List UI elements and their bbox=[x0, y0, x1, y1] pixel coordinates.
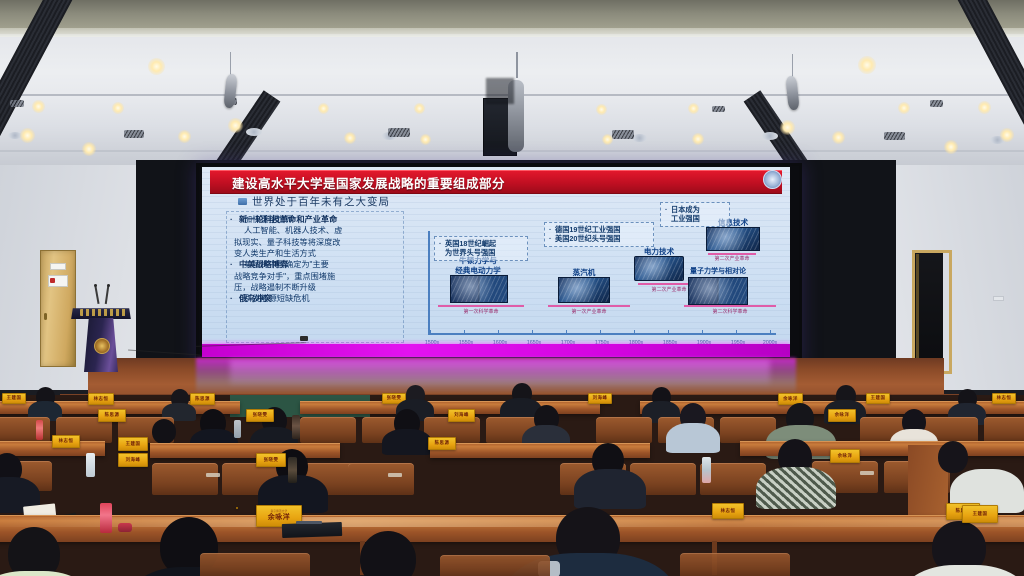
revolution-label: 第二次产业革命 bbox=[651, 286, 686, 293]
revolution-label: 第二次科学革命 bbox=[712, 308, 747, 315]
door-notice-mark bbox=[50, 278, 55, 283]
name-card: 王建国 bbox=[118, 437, 148, 451]
door-sign-left bbox=[50, 263, 66, 270]
stage-spotlight bbox=[148, 58, 165, 75]
seat-number-plate bbox=[206, 473, 220, 477]
callout-line: ·德国19世纪工业强国 bbox=[549, 225, 649, 235]
mug-lid[interactable] bbox=[118, 523, 132, 532]
ceiling-linear-vent bbox=[124, 130, 144, 138]
name-card: 王建国 bbox=[866, 393, 890, 404]
floor-connector-box bbox=[300, 336, 308, 341]
ceiling-downlight bbox=[978, 101, 991, 114]
ceiling-downlight bbox=[898, 102, 910, 114]
attendee-body bbox=[382, 429, 432, 455]
ceiling-vent bbox=[712, 106, 725, 112]
seat-back[interactable] bbox=[984, 417, 1024, 443]
speaker-shadow bbox=[486, 78, 514, 104]
name-card: 林志恒 bbox=[992, 393, 1016, 404]
name-card bbox=[236, 507, 238, 509]
attendee-body-floral-dress bbox=[756, 467, 836, 509]
ceiling-vent bbox=[930, 100, 943, 107]
ceiling-downlight bbox=[414, 103, 425, 114]
name-card: 林志恒 bbox=[52, 435, 80, 448]
lamp-rod bbox=[792, 54, 793, 78]
stage-spotlight bbox=[858, 56, 876, 74]
name-card: 林志恒 bbox=[712, 503, 744, 519]
era-label-quantum: 量子力学与相对论 bbox=[682, 268, 754, 277]
university-seal-icon bbox=[763, 170, 782, 189]
bullet-line: 变人类生产和生活方式 bbox=[230, 248, 400, 259]
revolution-label: 第一次产业革命 bbox=[571, 308, 606, 315]
audience-area: 王建国 林志恒 陈思源 张晓雯 刘海峰 余咏洋 王建国 林志恒 bbox=[0, 395, 1024, 576]
era-label-steam: 蒸汽机 bbox=[561, 268, 607, 277]
name-card: 王建国 bbox=[2, 393, 26, 404]
bullet-head: ·中美战略博弈 bbox=[230, 259, 288, 270]
attendee-body-foreground bbox=[900, 565, 1024, 576]
attendee-head bbox=[938, 441, 968, 473]
axis-tick bbox=[464, 330, 465, 335]
book-icon bbox=[238, 198, 247, 205]
attendee-body-light-shirt bbox=[666, 423, 720, 453]
era-photo-info bbox=[706, 227, 760, 251]
thermos-bottle[interactable] bbox=[292, 415, 300, 439]
water-bottle[interactable] bbox=[702, 457, 711, 483]
stage-spotlight bbox=[780, 120, 795, 135]
ceiling-downlight bbox=[596, 104, 607, 115]
bullet-line: 战略竞争对手"，重点围堵施 bbox=[230, 271, 400, 282]
ceiling-diffuser bbox=[762, 132, 778, 140]
axis-tick bbox=[532, 330, 533, 335]
callout-line: 为世界头号强国 bbox=[439, 248, 523, 258]
axis-tick bbox=[736, 330, 737, 335]
water-bottle[interactable] bbox=[86, 453, 95, 477]
water-bottle[interactable] bbox=[36, 420, 43, 440]
era-photo-electric bbox=[634, 256, 684, 281]
ceiling-diffuser bbox=[632, 134, 647, 142]
revolution-label-info: 第二次产业革命 bbox=[714, 255, 749, 262]
bullet-line: 人工智能、机器人技术、虚 bbox=[230, 225, 400, 236]
seat-number-plate bbox=[860, 471, 874, 475]
revolution-bar bbox=[684, 305, 776, 307]
name-card: 刘海峰 bbox=[118, 453, 148, 467]
name-card: 张晓雯 bbox=[246, 409, 274, 422]
ceiling-downlight bbox=[32, 100, 45, 113]
bullet-line: 压，战略遏制不断升级 bbox=[230, 282, 400, 293]
era-photo-newton bbox=[450, 275, 508, 303]
microphone-head-left bbox=[94, 284, 97, 287]
seat-front[interactable] bbox=[440, 555, 550, 576]
name-card: 余咏洋 bbox=[830, 449, 860, 463]
axis-tick bbox=[498, 330, 499, 335]
ceiling-band-trim bbox=[0, 28, 1024, 37]
axis-tick bbox=[600, 330, 601, 335]
name-card: 王建国 bbox=[962, 505, 998, 523]
name-card: 刘海峰 bbox=[448, 409, 475, 422]
thermos-bottle[interactable] bbox=[288, 457, 297, 483]
callout-japan: ·日本成为 工业强国 bbox=[660, 202, 730, 227]
speaker-rod bbox=[516, 52, 518, 78]
ceiling-downlight bbox=[20, 128, 35, 143]
podium-name-plate bbox=[80, 309, 126, 316]
exit-door-right[interactable] bbox=[915, 253, 943, 365]
ceiling-diffuser bbox=[246, 128, 262, 136]
exit-door-left[interactable] bbox=[40, 250, 76, 367]
door-hinge-right bbox=[916, 254, 919, 364]
revolution-label: 第一次科学革命 bbox=[463, 308, 498, 315]
slide-footer-band bbox=[202, 344, 790, 357]
slide-title-bar: 建设高水平大学是国家发展战略的重要组成部分 bbox=[210, 170, 782, 194]
desk-row-4-mid[interactable] bbox=[150, 443, 340, 458]
axis-tick bbox=[702, 330, 703, 335]
ceiling-downlight bbox=[944, 140, 958, 154]
name-card: 陈思源 bbox=[190, 393, 215, 405]
ceiling-downlight bbox=[688, 103, 699, 114]
axis-tick bbox=[668, 330, 669, 335]
seat-number-plate bbox=[388, 473, 402, 477]
ceiling-linear-vent bbox=[388, 128, 410, 137]
callout-line: ·英国18世纪崛起 bbox=[439, 239, 523, 249]
name-card: 陈思源 bbox=[428, 437, 456, 450]
revolution-bar bbox=[548, 305, 630, 307]
name-card: 陈思源 bbox=[98, 409, 126, 422]
era-photo-quantum bbox=[688, 277, 748, 305]
callout-line: 工业强国 bbox=[665, 214, 725, 224]
callout-line: ·日本成为 bbox=[665, 205, 725, 215]
university-crest-icon bbox=[94, 338, 110, 354]
attendee-body-foreground bbox=[0, 571, 94, 576]
attendee-body bbox=[574, 469, 646, 509]
attendee-head bbox=[152, 419, 176, 444]
seat-back[interactable] bbox=[596, 417, 652, 443]
name-card-name: 余咏洋 bbox=[268, 514, 291, 521]
name-card: 余咏洋 bbox=[828, 409, 856, 422]
lamp-rod bbox=[230, 52, 231, 76]
water-bottle[interactable] bbox=[234, 420, 241, 438]
ceiling-vent bbox=[10, 100, 24, 107]
ceiling-downlight bbox=[1000, 128, 1014, 142]
closed-laptop[interactable] bbox=[282, 522, 342, 538]
ceiling-downlight bbox=[602, 134, 613, 145]
ceiling bbox=[0, 0, 1024, 172]
seat-front[interactable] bbox=[200, 553, 310, 576]
ceiling-downlight bbox=[178, 130, 191, 143]
slide-title-text: 建设高水平大学是国家发展战略的重要组成部分 bbox=[210, 173, 505, 192]
microphone-head-right bbox=[107, 284, 110, 287]
ceiling-linear-vent bbox=[612, 130, 634, 139]
ceiling-linear-vent bbox=[884, 132, 905, 140]
screen-reflection-glow bbox=[230, 360, 770, 384]
seat-back[interactable] bbox=[152, 463, 218, 495]
slide-subheading: 世界处于百年未有之大变局 bbox=[238, 194, 390, 209]
axis-tick bbox=[770, 330, 771, 335]
callout-britain: ·英国18世纪崛起 为世界头号强国 bbox=[434, 236, 528, 261]
axis-tick bbox=[430, 330, 431, 335]
timeline-chart: 1500s 1550s 1600s 1650s 1700s 1750s 1800… bbox=[416, 207, 782, 351]
era-photo-steam bbox=[558, 277, 610, 303]
ceiling-downlight bbox=[420, 134, 431, 145]
travel-mug[interactable] bbox=[100, 503, 112, 533]
ceiling-downlight bbox=[112, 102, 124, 114]
slide-bullet-box: ·新一轮科技革命和产业革命 加快重塑世界 人工智能、机器人技术、虚 拟现实、量子… bbox=[226, 211, 404, 343]
presentation-slide: 建设高水平大学是国家发展战略的重要组成部分 世界处于百年未有之大变局 ·新一轮科… bbox=[202, 167, 790, 357]
seat-front[interactable] bbox=[680, 553, 790, 576]
lecture-hall-photo: 建设高水平大学是国家发展战略的重要组成部分 世界处于百年未有之大变局 ·新一轮科… bbox=[0, 0, 1024, 576]
era-label-electric: 电力技术 bbox=[636, 247, 682, 256]
ceiling-downlight bbox=[692, 133, 704, 145]
name-card: 刘海峰 bbox=[588, 393, 612, 404]
ceiling-downlight bbox=[832, 131, 845, 144]
name-card: 张晓雯 bbox=[256, 453, 286, 467]
axis-tick bbox=[634, 330, 635, 335]
callout-line: ·美国20世纪头号强国 bbox=[549, 234, 649, 244]
seat-back[interactable] bbox=[348, 463, 414, 495]
revolution-bar bbox=[438, 305, 524, 307]
bullet-line: 拟现实、量子科技等将深度改 bbox=[230, 237, 400, 248]
timeline-y-axis bbox=[428, 231, 430, 335]
stage-spotlight bbox=[228, 118, 243, 133]
axis-tick bbox=[566, 330, 567, 335]
door-handle-left[interactable] bbox=[44, 313, 47, 320]
seat-back[interactable] bbox=[300, 417, 356, 443]
desk-sheen bbox=[0, 517, 1024, 527]
name-card: 林志恒 bbox=[88, 393, 114, 405]
wall-switch-right[interactable] bbox=[993, 296, 1004, 301]
pen-on-laptop[interactable] bbox=[296, 521, 322, 524]
ceiling-downlight bbox=[82, 142, 96, 156]
callout-germany-usa: ·德国19世纪工业强国 ·美国20世纪头号强国 bbox=[544, 222, 654, 247]
bullet-head: ·新一轮科技革命和产业革命 bbox=[230, 214, 337, 225]
ceiling-downlight bbox=[318, 103, 329, 114]
slide-subheading-text: 世界处于百年未有之大变局 bbox=[252, 194, 390, 209]
podium bbox=[78, 300, 124, 372]
timeline-x-axis bbox=[428, 333, 776, 335]
ceiling-downlight bbox=[344, 132, 356, 144]
bullet-head: ·俄乌冲突 bbox=[230, 293, 272, 304]
